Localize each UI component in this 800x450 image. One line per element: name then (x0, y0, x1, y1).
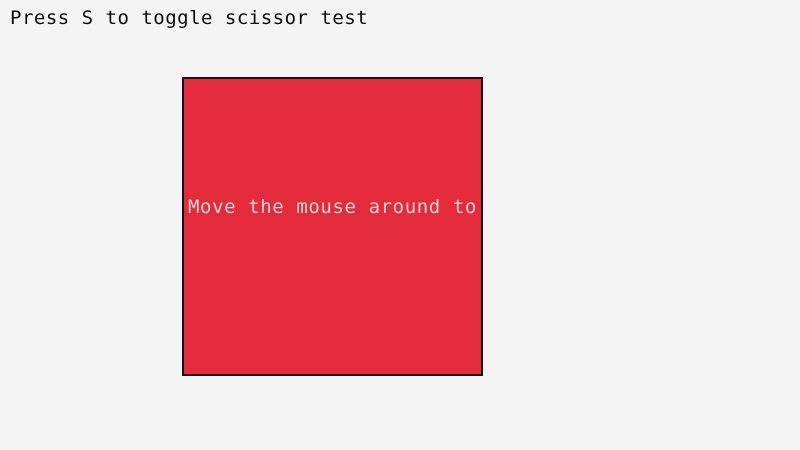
scissor-toggle-hint-text: Press S to toggle scissor test (10, 6, 368, 30)
scissor-test-rectangle[interactable]: Move the mouse around to r (182, 77, 483, 376)
scissor-clipped-message: Move the mouse around to r (188, 195, 483, 219)
app-canvas[interactable]: Press S to toggle scissor test Move the … (0, 0, 800, 450)
